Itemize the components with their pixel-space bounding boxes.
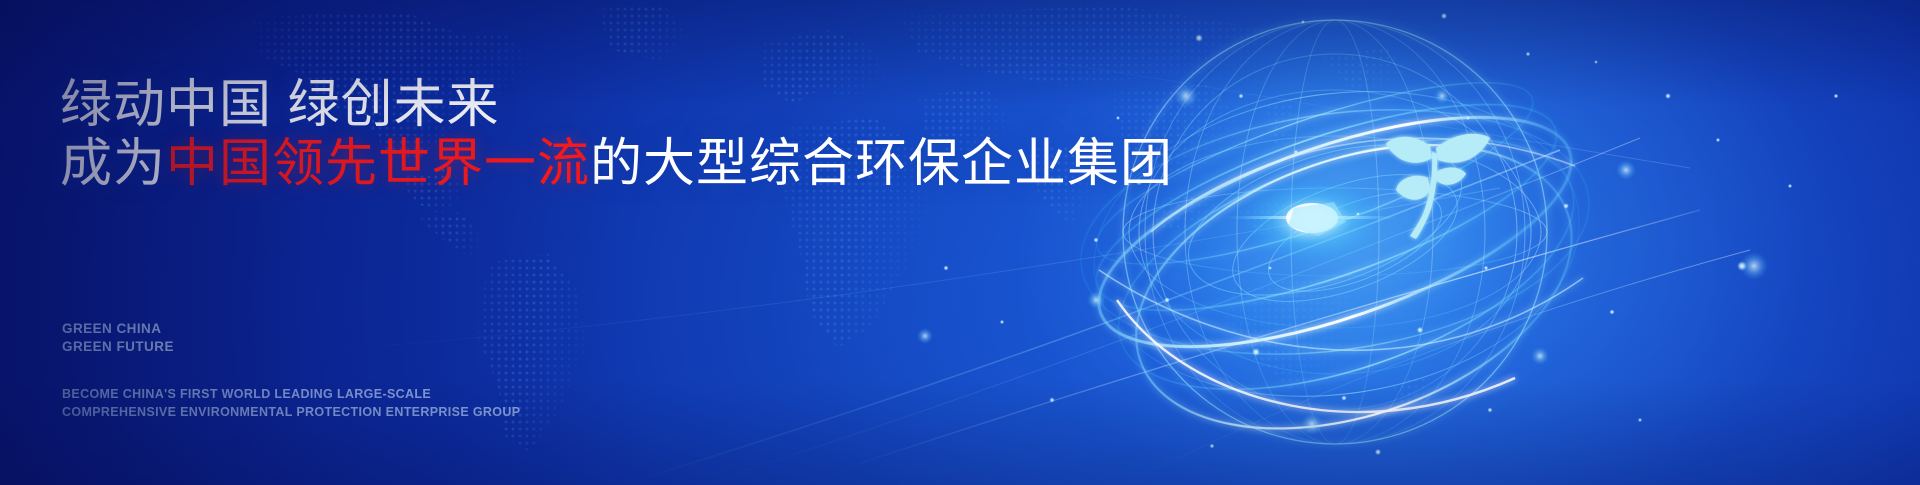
- english-mission: BECOME CHINA'S FIRST WORLD LEADING LARGE…: [62, 385, 520, 421]
- headline-highlight: 中国领先世界一流: [166, 135, 590, 193]
- headline-line-1: 绿动中国 绿创未来: [60, 76, 1020, 135]
- globe-glow: [1100, 10, 1570, 480]
- english-mission-line-1: BECOME CHINA'S FIRST WORLD LEADING LARGE…: [62, 385, 520, 403]
- english-slogan-line-2: GREEN FUTURE: [62, 338, 174, 356]
- hero-banner: 绿动中国 绿创未来 成为中国领先世界一流的大型综合环保企业集团 GREEN CH…: [0, 0, 1920, 485]
- english-mission-line-2: COMPREHENSIVE ENVIRONMENTAL PROTECTION E…: [62, 403, 520, 421]
- banner-content: 绿动中国 绿创未来 成为中国领先世界一流的大型综合环保企业集团 GREEN CH…: [0, 0, 1020, 485]
- english-slogan-line-1: GREEN CHINA: [62, 320, 174, 338]
- headline-suffix: 的大型综合环保企业集团: [590, 135, 1173, 193]
- globe-graphic: [1055, 0, 1615, 485]
- page-title: 绿动中国 绿创未来 成为中国领先世界一流的大型综合环保企业集团: [60, 76, 1020, 195]
- sprout-seedling-icon: [1374, 112, 1494, 242]
- english-slogan: GREEN CHINA GREEN FUTURE: [62, 320, 174, 356]
- headline-prefix: 成为: [60, 135, 166, 193]
- globe-core-flare: [1222, 150, 1402, 290]
- headline-line-2: 成为中国领先世界一流的大型综合环保企业集团: [60, 135, 1020, 194]
